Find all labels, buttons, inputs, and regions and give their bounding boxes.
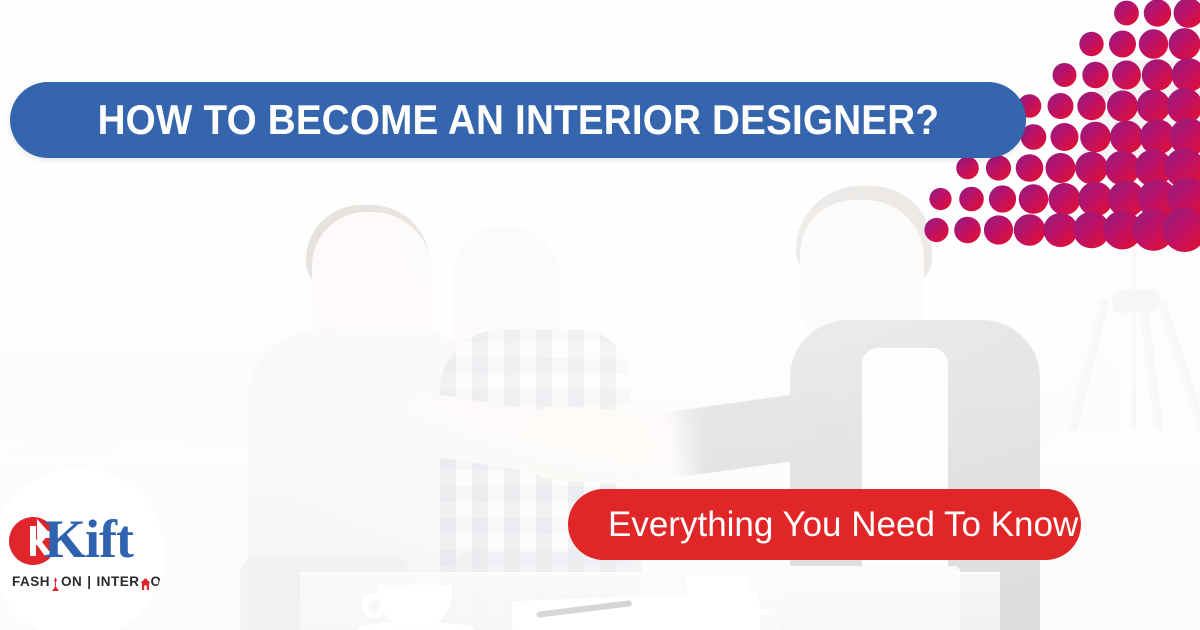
house-icon — [140, 577, 151, 591]
tagline-interior-tail: OR — [151, 574, 164, 589]
cup-handle — [362, 594, 386, 618]
logo-inner: Kift FASH ON | INTER OR — [0, 490, 156, 620]
mannequin-icon — [50, 577, 61, 591]
subtitle-text: Everything You Need To Know — [608, 505, 1078, 545]
lamp-hub — [1111, 288, 1160, 313]
logo-tagline: FASH ON | INTER OR — [12, 574, 164, 589]
designer-shirt — [862, 348, 948, 598]
logo-wordmark: Kift — [44, 508, 133, 570]
subtitle-pill: Everything You Need To Know — [568, 489, 1081, 560]
page-title: HOW TO BECOME AN INTERIOR DESIGNER? — [97, 96, 939, 144]
title-banner: HOW TO BECOME AN INTERIOR DESIGNER? — [10, 82, 1026, 158]
hero-banner-canvas: HOW TO BECOME AN INTERIOR DESIGNER? Ever… — [0, 0, 1200, 630]
tagline-fashion-head: FASH — [12, 574, 50, 589]
handshake — [518, 403, 655, 486]
tagline-separator: | — [82, 574, 96, 589]
tagline-fashion-tail: ON — [61, 574, 82, 589]
tagline-interior-head: INTER — [97, 574, 140, 589]
logo-badge[interactable]: Kift FASH ON | INTER OR — [0, 468, 164, 630]
